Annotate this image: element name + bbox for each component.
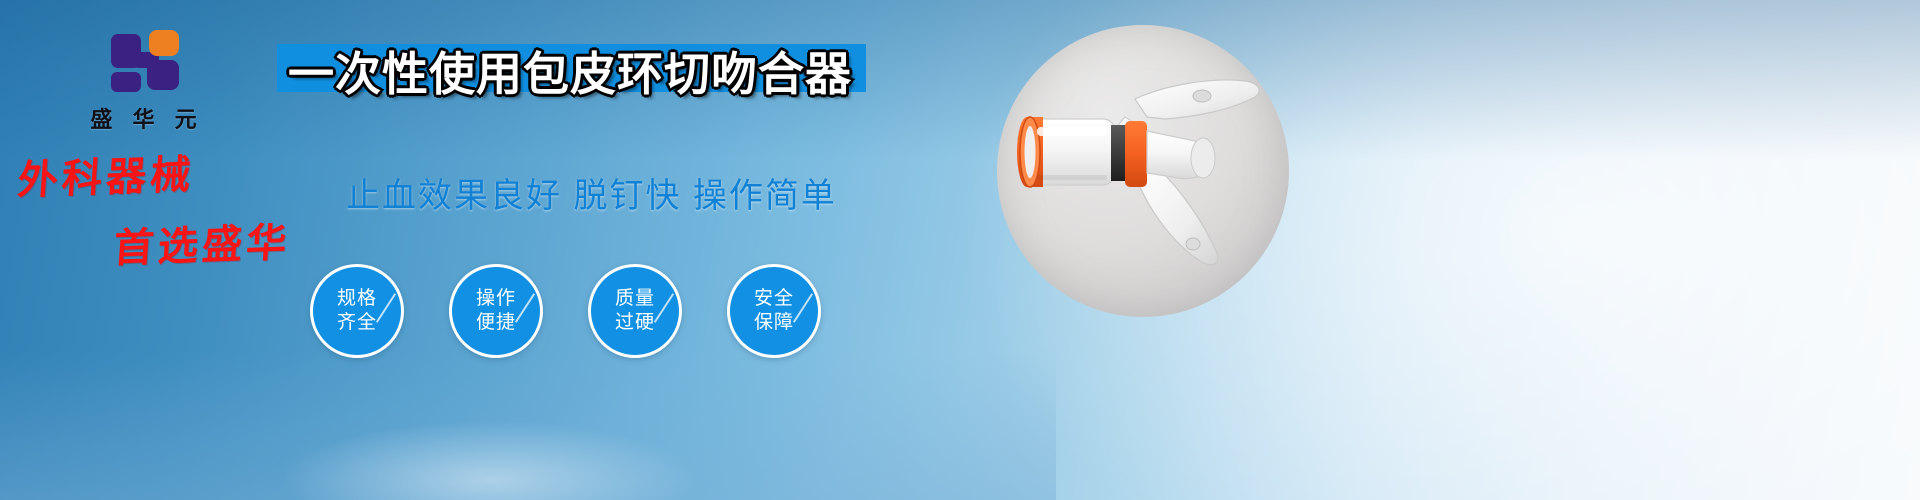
page-title: 一次性使用包皮环切吻合器	[288, 38, 888, 104]
slogan-line-2: 首选盛华	[112, 208, 341, 274]
feature-badge[interactable]: 规格 齐全	[310, 264, 404, 358]
brand-logo-block: 盛 华 元	[62, 28, 232, 134]
badge-line-1: 质量	[615, 287, 655, 311]
badge-line-2: 便捷	[476, 311, 516, 335]
shenghuayuan-logo-icon	[111, 28, 183, 88]
badge-line-1: 安全	[754, 287, 794, 311]
subtitle: 止血效果良好 脱钉快 操作简单	[346, 168, 837, 217]
badge-line-2: 保障	[754, 311, 794, 335]
badge-line-1: 操作	[476, 287, 516, 311]
badge-line-2: 过硬	[615, 311, 655, 335]
badge-line-1: 规格	[337, 287, 377, 311]
feature-badge[interactable]: 质量 过硬	[588, 264, 682, 358]
feature-badge[interactable]: 安全 保障	[727, 264, 821, 358]
feature-badge[interactable]: 操作 便捷	[449, 264, 543, 358]
company-name: 盛 华 元	[62, 102, 232, 134]
promo-banner: 盛 华 元 外科器械 首选盛华 一次性使用包皮环切吻合器 止血效果良好 脱钉快 …	[0, 0, 1920, 500]
slogan-line-1: 外科器械	[16, 137, 341, 206]
calligraphy-slogan: 外科器械 首选盛华	[18, 148, 338, 274]
badge-line-2: 齐全	[337, 311, 377, 335]
circumcision-stapler-photo	[997, 25, 1289, 317]
